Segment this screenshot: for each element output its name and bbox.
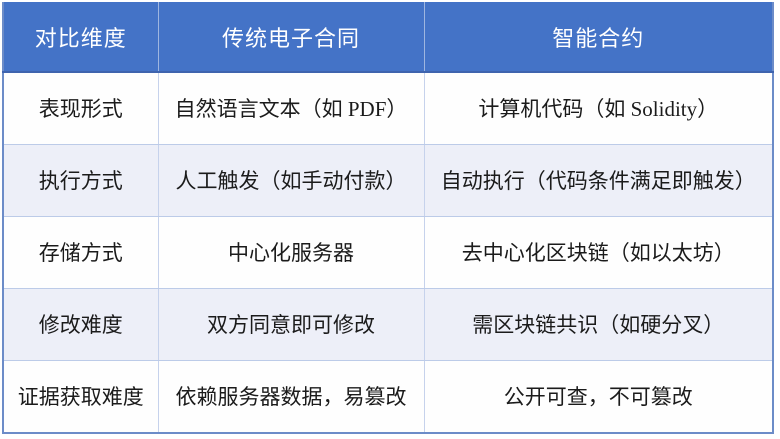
column-header-smart: 智能合约 (424, 2, 773, 72)
table-header: 对比维度 传统电子合同 智能合约 (3, 2, 773, 72)
table-row: 表现形式 自然语言文本（如 PDF） 计算机代码（如 Solidity） (3, 72, 773, 144)
comparison-table-container: 对比维度 传统电子合同 智能合约 表现形式 自然语言文本（如 PDF） 计算机代… (2, 2, 772, 433)
table-row: 存储方式 中心化服务器 去中心化区块链（如以太坊） (3, 216, 773, 288)
table-row: 证据获取难度 依赖服务器数据，易篡改 公开可查，不可篡改 (3, 360, 773, 433)
cell-dimension: 修改难度 (3, 288, 158, 360)
cell-dimension: 存储方式 (3, 216, 158, 288)
cell-dimension: 证据获取难度 (3, 360, 158, 433)
cell-traditional: 自然语言文本（如 PDF） (158, 72, 424, 144)
cell-smart: 需区块链共识（如硬分叉） (424, 288, 773, 360)
cell-dimension: 表现形式 (3, 72, 158, 144)
table-header-row: 对比维度 传统电子合同 智能合约 (3, 2, 773, 72)
cell-smart: 自动执行（代码条件满足即触发） (424, 144, 773, 216)
column-header-traditional: 传统电子合同 (158, 2, 424, 72)
cell-traditional: 中心化服务器 (158, 216, 424, 288)
table-row: 修改难度 双方同意即可修改 需区块链共识（如硬分叉） (3, 288, 773, 360)
cell-traditional: 双方同意即可修改 (158, 288, 424, 360)
column-header-dimension: 对比维度 (3, 2, 158, 72)
comparison-table: 对比维度 传统电子合同 智能合约 表现形式 自然语言文本（如 PDF） 计算机代… (2, 2, 774, 434)
cell-smart: 去中心化区块链（如以太坊） (424, 216, 773, 288)
cell-traditional: 依赖服务器数据，易篡改 (158, 360, 424, 433)
cell-smart: 公开可查，不可篡改 (424, 360, 773, 433)
table-row: 执行方式 人工触发（如手动付款） 自动执行（代码条件满足即触发） (3, 144, 773, 216)
cell-traditional: 人工触发（如手动付款） (158, 144, 424, 216)
cell-dimension: 执行方式 (3, 144, 158, 216)
cell-smart: 计算机代码（如 Solidity） (424, 72, 773, 144)
table-body: 表现形式 自然语言文本（如 PDF） 计算机代码（如 Solidity） 执行方… (3, 72, 773, 433)
